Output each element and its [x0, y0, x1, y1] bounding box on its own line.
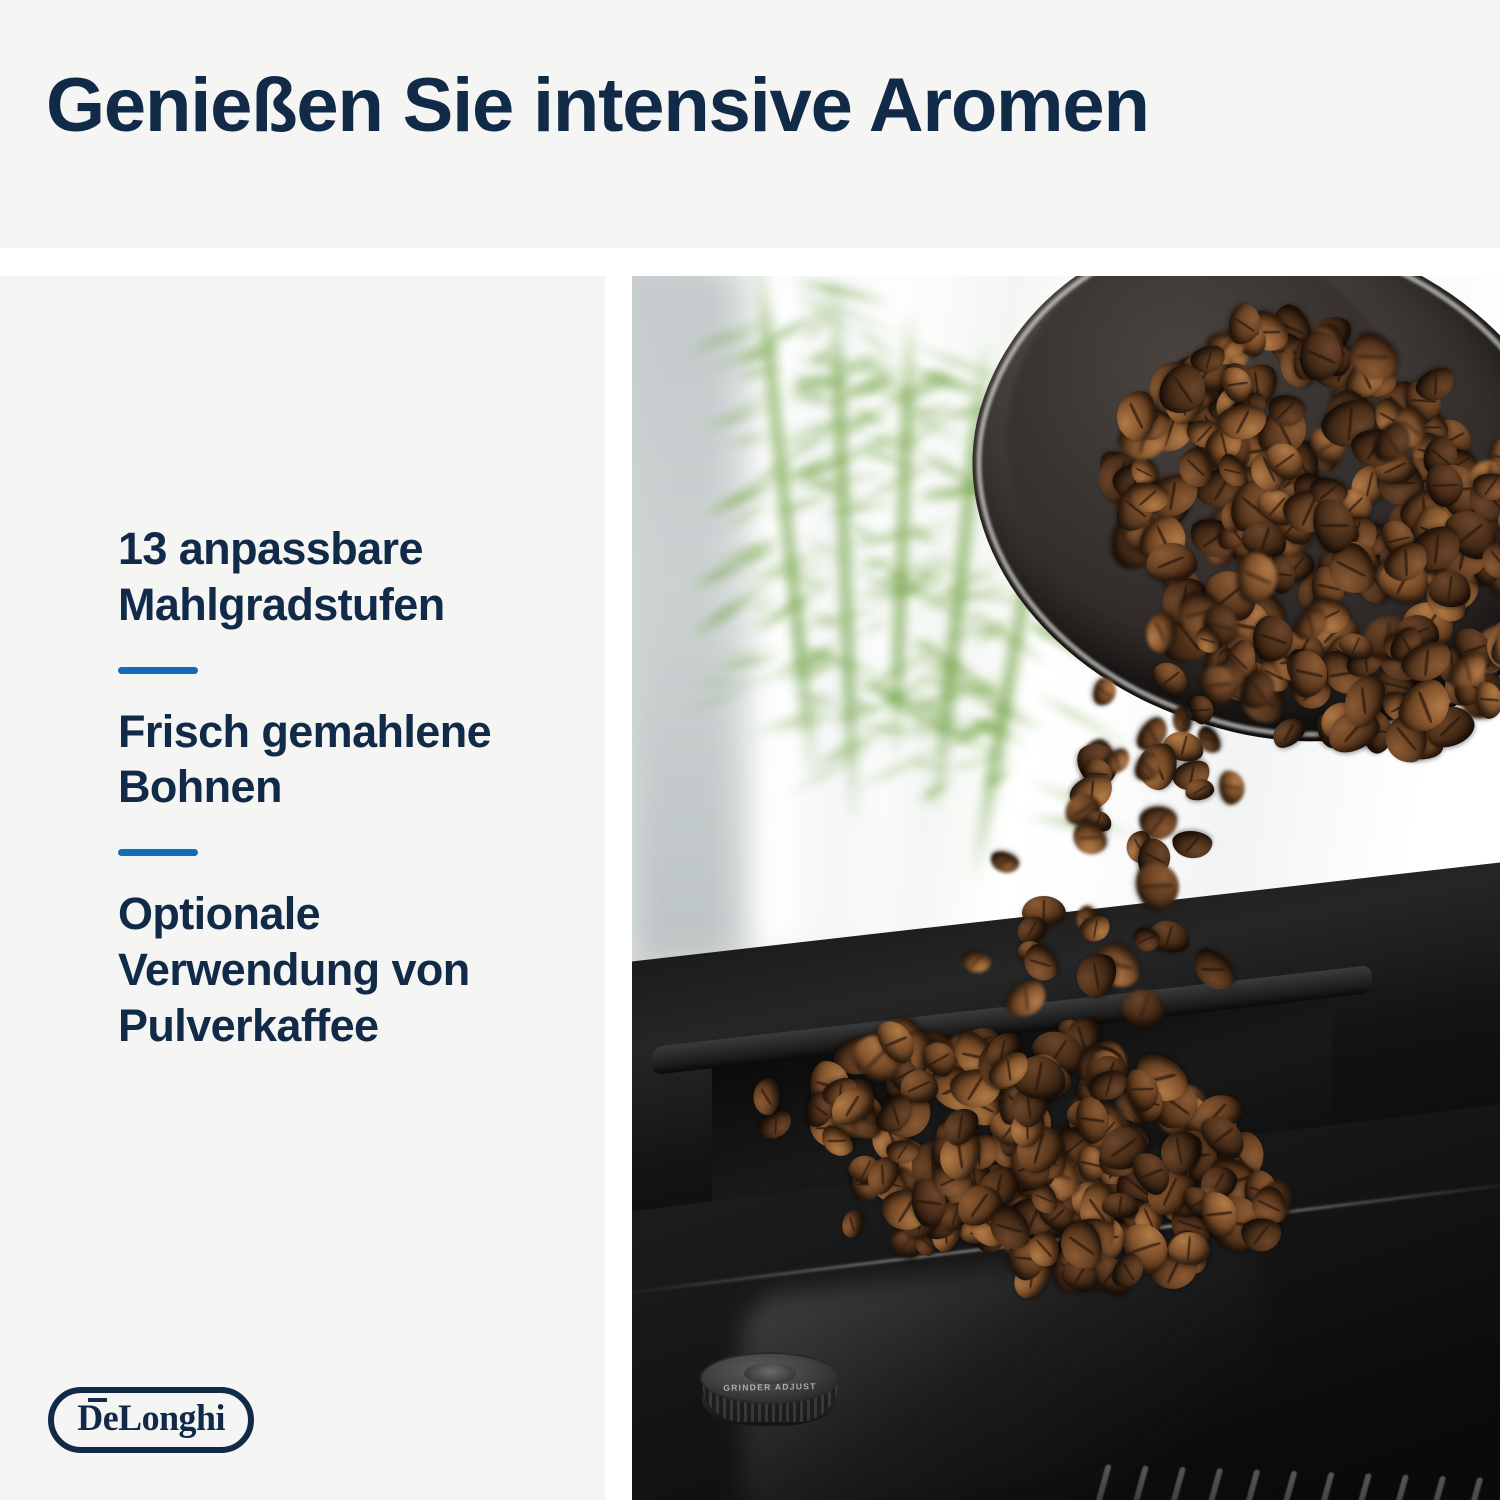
coffee-bean — [752, 1077, 780, 1115]
feature-item-3: Optionale Verwendung von Pulverkaffee — [118, 886, 588, 1053]
feature-divider-1 — [118, 667, 198, 674]
product-photo: GRINDER ADJUST — [632, 276, 1500, 1500]
feature-item-1: 13 anpassbare Mahlgradstufen — [118, 521, 588, 633]
feature-panel: 13 anpassbare Mahlgradstufen Frisch gema… — [0, 276, 605, 1500]
feature-divider-2 — [118, 849, 198, 856]
delonghi-logo: DeLonghi — [48, 1387, 254, 1453]
logo-macron-accent — [88, 1398, 107, 1402]
page-title: Genießen Sie intensive Aromen — [46, 62, 1149, 149]
feature-item-2: Frisch gemahlene Bohnen — [118, 704, 588, 816]
feature-label-3: Optionale Verwendung von Pulverkaffee — [118, 886, 588, 1053]
header-band: Genießen Sie intensive Aromen — [0, 0, 1500, 248]
coffee-bean — [1241, 1218, 1282, 1252]
feature-list: 13 anpassbare Mahlgradstufen Frisch gema… — [118, 521, 588, 1054]
feature-label-1: 13 anpassbare Mahlgradstufen — [118, 521, 588, 633]
logo-wordmark: DeLonghi — [77, 1400, 225, 1440]
product-feature-panel: Genießen Sie intensive Aromen 13 anpassb… — [0, 0, 1500, 1500]
feature-label-2: Frisch gemahlene Bohnen — [118, 704, 588, 816]
